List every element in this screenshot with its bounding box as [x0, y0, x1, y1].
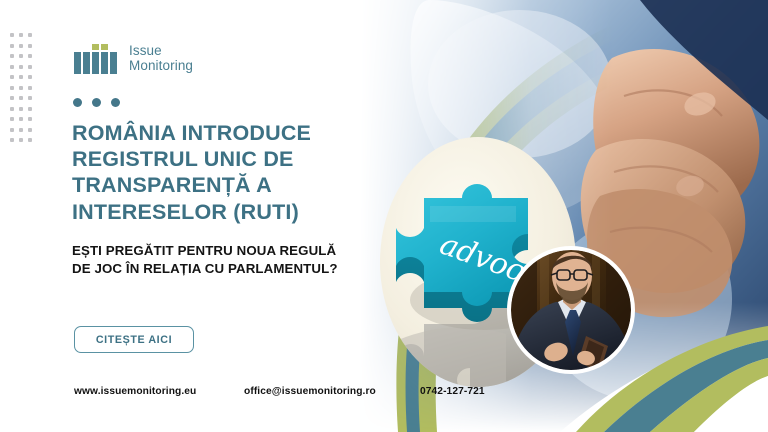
brand-logo[interactable]: Issue Monitoring — [74, 44, 193, 74]
phone-number[interactable]: 0742-127-721 — [420, 386, 485, 397]
website-link[interactable]: www.issuemonitoring.eu — [74, 386, 244, 397]
promo-banner: advocacy — [0, 0, 768, 432]
brand-logo-wordmark: Issue Monitoring — [129, 44, 193, 74]
portrait-circle — [509, 248, 633, 372]
read-here-button[interactable]: CITEȘTE AICI — [74, 326, 194, 353]
decorative-arc-top — [396, 0, 760, 432]
puzzle-word: advocacy — [435, 227, 577, 307]
email-link[interactable]: office@issuemonitoring.ro — [244, 386, 420, 397]
handshake-photo — [360, 0, 768, 432]
eyebrow-dot — [92, 98, 101, 107]
brand-logo-line2: Monitoring — [129, 59, 193, 73]
page-title: ROMÂNIA INTRODUCE REGISTRUL UNIC DE TRAN… — [72, 120, 372, 225]
eyebrow-dot — [111, 98, 120, 107]
advocacy-puzzle-graphic: advocacy — [380, 137, 577, 396]
decorative-dot-grid — [8, 30, 34, 146]
decorative-arc-bottom — [560, 326, 768, 432]
contact-footer: www.issuemonitoring.eu office@issuemonit… — [74, 386, 485, 397]
bar-chart-logo-icon — [74, 44, 120, 74]
eyebrow-dot — [73, 98, 82, 107]
brand-logo-line1: Issue — [129, 44, 193, 58]
page-subtitle: EȘTI PREGĂTIT PENTRU NOUA REGULĂ DE JOC … — [72, 242, 344, 279]
eyebrow-dots — [73, 98, 120, 107]
